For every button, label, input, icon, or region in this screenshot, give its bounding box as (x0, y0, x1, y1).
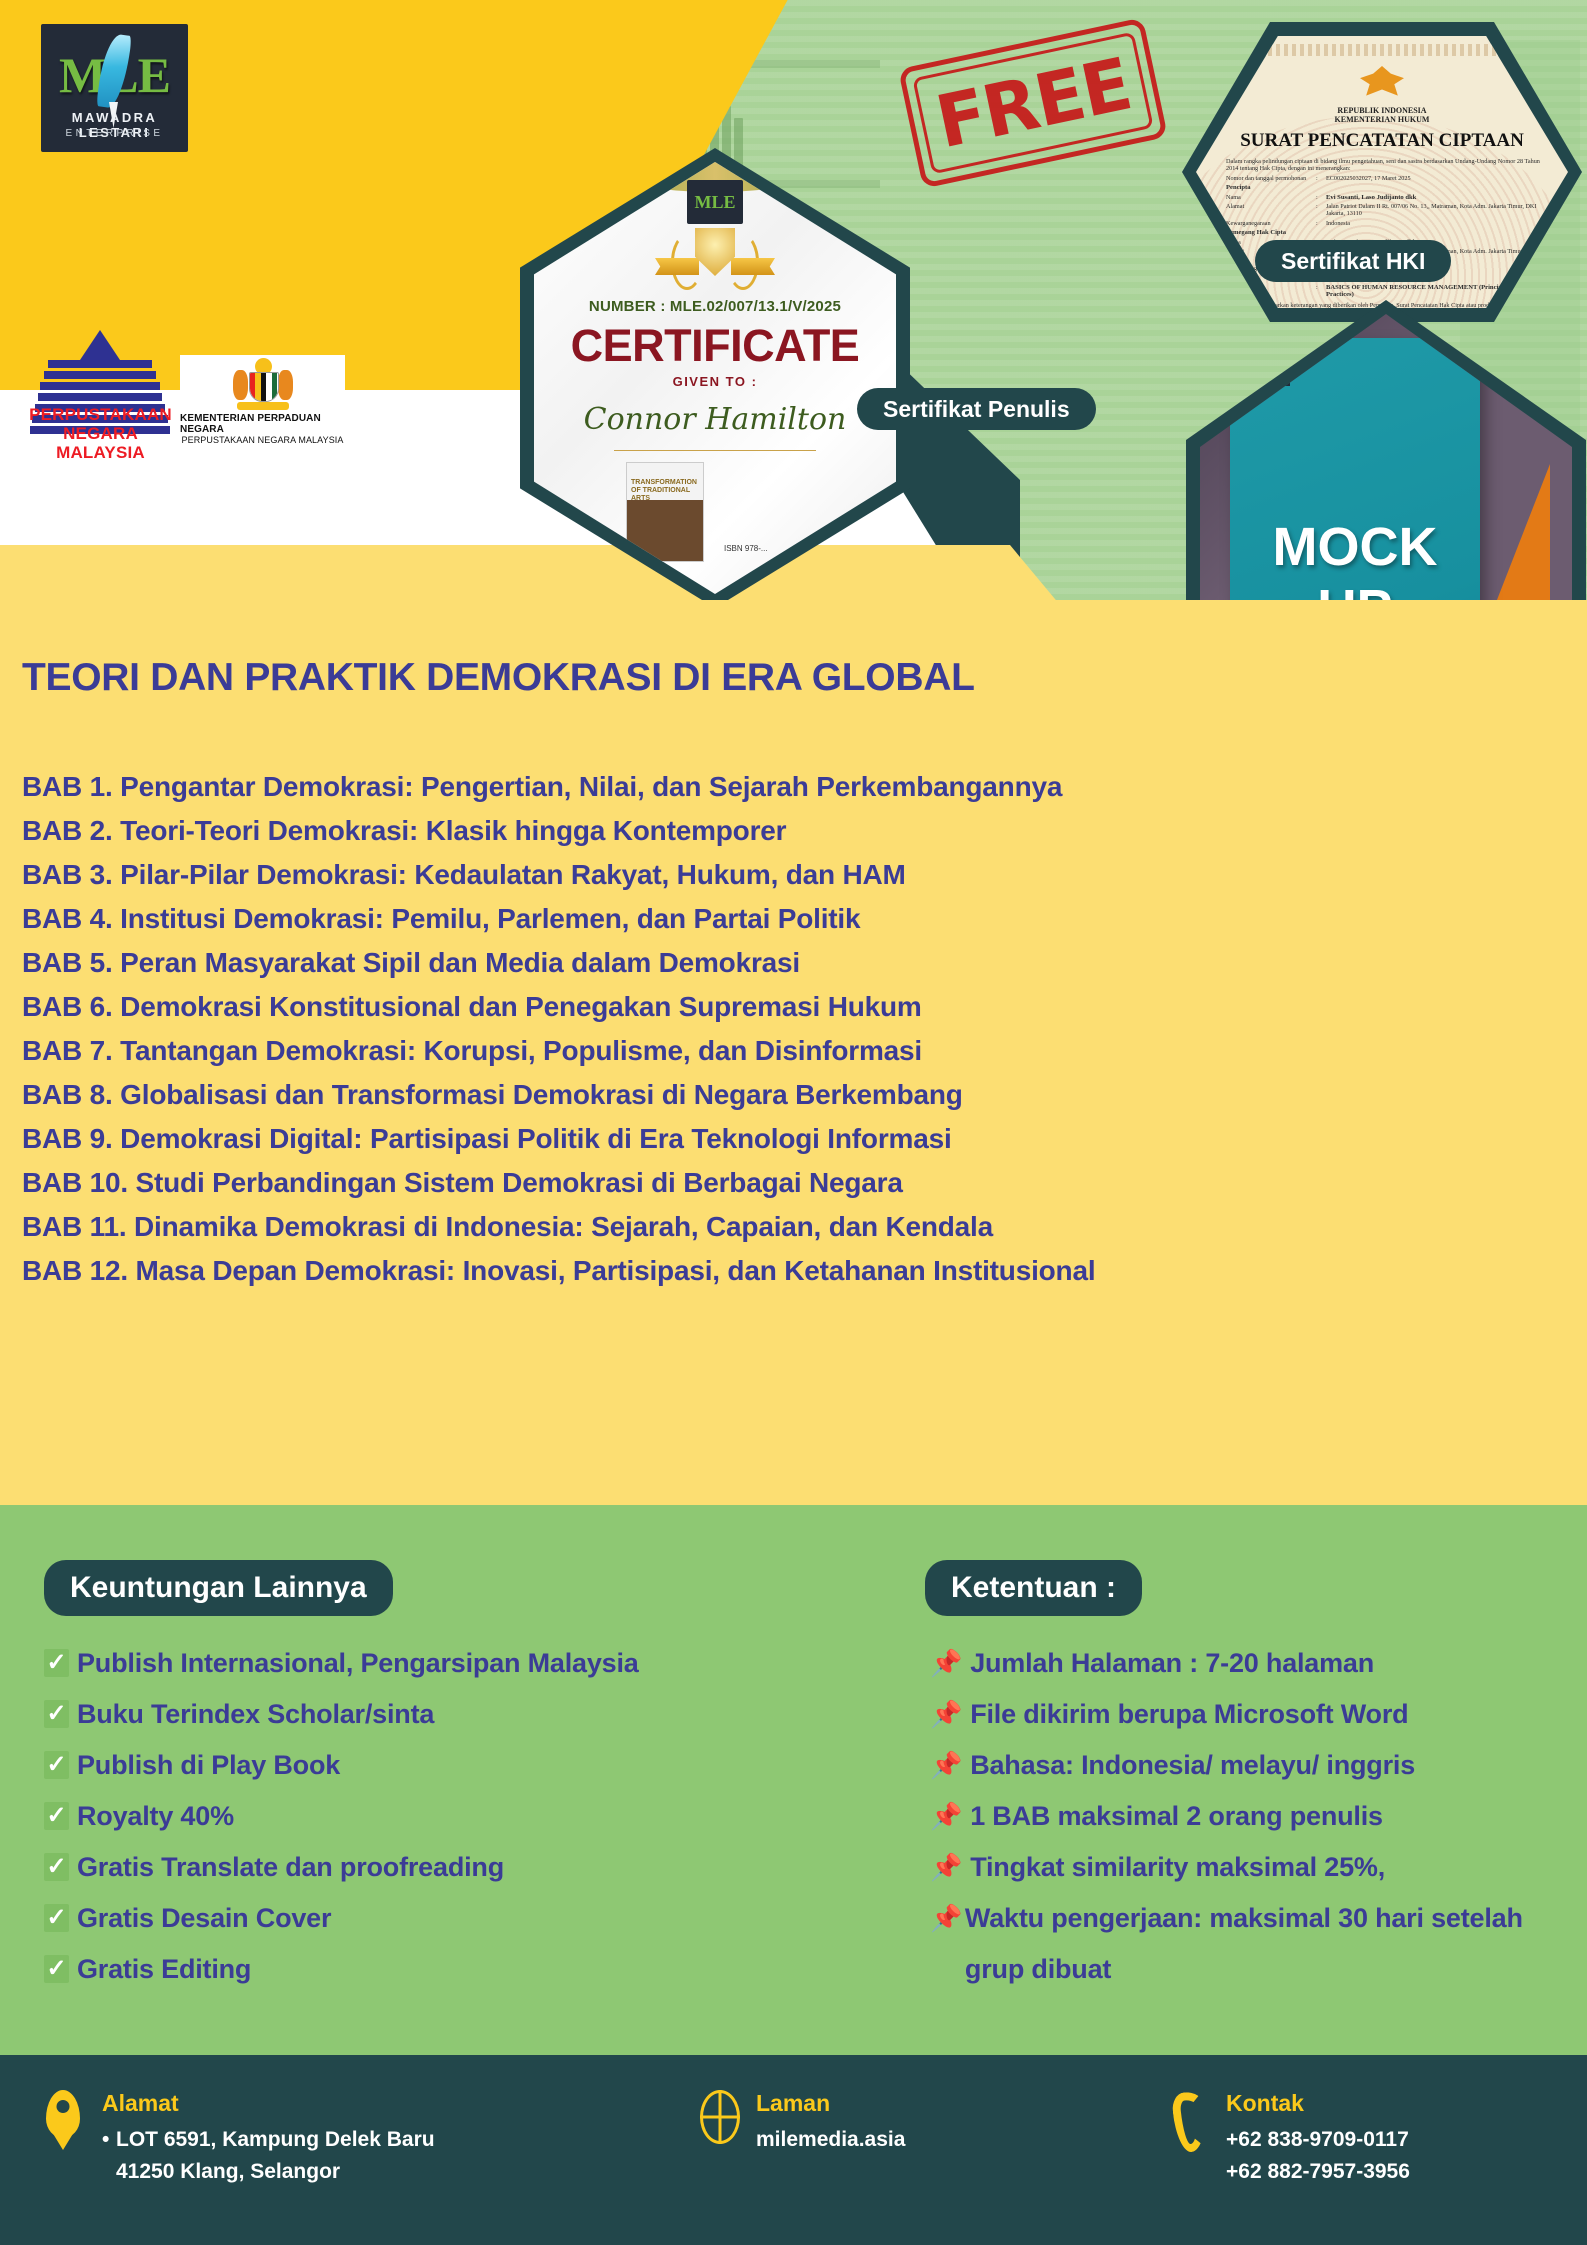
certificate-title: CERTIFICATE (534, 320, 896, 372)
pnm-caption: PERPUSTAKAANNEGARA MALAYSIA (18, 405, 183, 462)
hki-value: Jalan Patriot Dalam II Rt. 007/06 No. 13… (1326, 203, 1546, 218)
pushpin-icon: 📌 (930, 1638, 962, 1689)
list-item: ✓Gratis Desain Cover (44, 1893, 864, 1944)
chapter-item: BAB 1. Pengantar Demokrasi: Pengertian, … (22, 765, 1542, 809)
address-line1-text: LOT 6591, Kampung Delek Baru (116, 2128, 435, 2151)
list-item: 📌Jumlah Halaman : 7-20 halaman (930, 1638, 1560, 1689)
check-icon: ✓ (44, 1955, 69, 1983)
footer-phone-1[interactable]: +62 838-9709-0117 (1226, 2124, 1410, 2156)
check-icon: ✓ (44, 1700, 69, 1728)
check-icon: ✓ (44, 1649, 69, 1677)
hki-key: Nomor dan tanggal permohonan (1226, 175, 1312, 182)
hki-key: Pemegang Hak Cipta (1226, 229, 1286, 236)
pushpin-icon: 📌 (930, 1842, 962, 1893)
sertifikat-hki-badge[interactable]: Sertifikat HKI (1255, 240, 1451, 282)
list-item: ✓Gratis Editing (44, 1944, 864, 1995)
malaysia-crest-icon (231, 360, 295, 410)
chapter-item: BAB 5. Peran Masyarakat Sipil dan Media … (22, 941, 1542, 985)
footer-web-title: Laman (756, 2090, 905, 2116)
chapter-item: BAB 7. Tantangan Demokrasi: Korupsi, Pop… (22, 1029, 1542, 1073)
list-item: 📌File dikirim berupa Microsoft Word (930, 1689, 1560, 1740)
certificate-isbn: ISBN 978-... (724, 544, 768, 553)
hki-value: Evi Susanti, Laso Judijanto dkk (1326, 194, 1416, 201)
hki-republic-line2: KEMENTERIAN HUKUM (1335, 115, 1430, 124)
list-item: ✓Publish Internasional, Pengarsipan Mala… (44, 1638, 864, 1689)
terms-list: 📌Jumlah Halaman : 7-20 halaman 📌File dik… (930, 1638, 1560, 1995)
chapter-item: BAB 6. Demokrasi Konstitusional dan Pene… (22, 985, 1542, 1029)
chapter-item: BAB 11. Dinamika Demokrasi di Indonesia:… (22, 1205, 1542, 1249)
free-stamp-label: FREE (930, 48, 1136, 159)
garuda-emblem-icon (1360, 66, 1404, 104)
hki-value: EC002025032027, 17 Maret 2025 (1326, 175, 1546, 182)
footer-contact-block: Kontak +62 838-9709-0117 +62 882-7957-39… (1170, 2090, 1410, 2188)
pushpin-icon: 📌 (930, 1893, 957, 1944)
benefits-header-label: Keuntungan Lainnya (70, 1571, 367, 1605)
certificate-book-title: TRANSFORMATION OF TRADITIONAL ARTS (631, 479, 699, 503)
list-item: ✓Publish di Play Book (44, 1740, 864, 1791)
chapter-item: BAB 2. Teori-Teori Demokrasi: Klasik hin… (22, 809, 1542, 853)
footer-address-line2: 41250 Klang, Selangor (102, 2156, 435, 2188)
check-icon: ✓ (44, 1904, 69, 1932)
chapter-item: BAB 10. Studi Perbandingan Sistem Demokr… (22, 1161, 1542, 1205)
benefit-label: Buku Terindex Scholar/sinta (77, 1689, 434, 1740)
check-icon: ✓ (44, 1802, 69, 1830)
ministry-line-2: PERPUSTAKAAN NEGARA MALAYSIA (181, 435, 343, 445)
certificate-given-to-label: GIVEN TO : (534, 374, 896, 389)
hki-value: BASICS OF HUMAN RESOURCE MANAGEMENT (Pri… (1326, 284, 1522, 298)
sertifikat-penulis-label: Sertifikat Penulis (883, 396, 1070, 423)
benefit-label: Gratis Translate dan proofreading (77, 1842, 504, 1893)
hki-value: Indonesia (1326, 220, 1546, 227)
certificate-hex-card: MLE NUMBER : MLE.02/007/13.1/V/2025 CERT… (520, 148, 910, 608)
hki-title: SURAT PENCATATAN CIPTAAN (1196, 130, 1568, 152)
benefit-label: Gratis Desain Cover (77, 1893, 331, 1944)
list-item: ✓Royalty 40% (44, 1791, 864, 1842)
page-title: TEORI DAN PRAKTIK DEMOKRASI DI ERA GLOBA… (22, 653, 1142, 703)
list-item: 📌Bahasa: Indonesia/ melayu/ inggris (930, 1740, 1560, 1791)
terms-header-label: Ketentuan : (951, 1571, 1116, 1605)
benefit-label: Publish Internasional, Pengarsipan Malay… (77, 1638, 639, 1689)
list-item: ✓Buku Terindex Scholar/sinta (44, 1689, 864, 1740)
term-label: File dikirim berupa Microsoft Word (970, 1689, 1408, 1740)
mle-logo: MLE MAWADRA LESTARI ENTERPRISE (41, 24, 188, 152)
list-item: 📌1 BAB maksimal 2 orang penulis (930, 1791, 1560, 1842)
footer-web-block: Laman milemedia.asia (700, 2090, 905, 2156)
benefits-header: Keuntungan Lainnya (44, 1560, 393, 1616)
benefit-label: Royalty 40% (77, 1791, 234, 1842)
sertifikat-penulis-badge[interactable]: Sertifikat Penulis (857, 388, 1096, 430)
certificate-seal-icon (655, 228, 775, 290)
footer-contact-title: Kontak (1226, 2090, 1410, 2116)
mockup-title-line1: MOCK (1230, 516, 1480, 578)
term-label: Jumlah Halaman : 7-20 halaman (970, 1638, 1374, 1689)
pnm-triangle-icon (80, 330, 120, 360)
term-label: 1 BAB maksimal 2 orang penulis (970, 1791, 1383, 1842)
list-item: 📌Tingkat similarity maksimal 25%, (930, 1842, 1560, 1893)
footer-address-block: Alamat •LOT 6591, Kampung Delek Baru 412… (46, 2090, 435, 2188)
chapter-item: BAB 3. Pilar-Pilar Demokrasi: Kedaulatan… (22, 853, 1542, 897)
hki-key: Alamat (1226, 203, 1312, 218)
certificate-number: NUMBER : MLE.02/007/13.1/V/2025 (534, 298, 896, 315)
list-item: ✓Gratis Translate dan proofreading (44, 1842, 864, 1893)
benefit-label: Publish di Play Book (77, 1740, 340, 1791)
benefits-list: ✓Publish Internasional, Pengarsipan Mala… (44, 1638, 864, 1995)
chapter-item: BAB 9. Demokrasi Digital: Partisipasi Po… (22, 1117, 1542, 1161)
term-label: Bahasa: Indonesia/ melayu/ inggris (970, 1740, 1415, 1791)
pushpin-icon: 📌 (930, 1791, 962, 1842)
footer-web-url[interactable]: milemedia.asia (756, 2124, 905, 2156)
sertifikat-hki-label: Sertifikat HKI (1281, 248, 1425, 275)
certificate-logo: MLE (687, 180, 743, 224)
certificate-logo-letters: MLE (694, 192, 735, 213)
hki-key: Kewarganegaraan (1226, 220, 1312, 227)
logo-company-suffix: ENTERPRISE (41, 128, 188, 139)
poster-root: MLE MAWADRA LESTARI ENTERPRISE PERPUSTAK… (0, 0, 1587, 2245)
list-item: 📌Waktu pengerjaan: maksimal 30 hari sete… (930, 1893, 1560, 1995)
footer-address-title: Alamat (102, 2090, 435, 2116)
chapter-list: BAB 1. Pengantar Demokrasi: Pengertian, … (22, 765, 1542, 1293)
hki-republic-line1: REPUBLIK INDONESIA (1337, 106, 1426, 115)
hki-intro: Dalam rangka pelindungan ciptaan di bida… (1226, 158, 1546, 173)
hki-body: Dalam rangka pelindungan ciptaan di bida… (1226, 158, 1546, 308)
hki-republic-header: REPUBLIK INDONESIA KEMENTERIAN HUKUM (1196, 106, 1568, 124)
chapter-item: BAB 4. Institusi Demokrasi: Pemilu, Parl… (22, 897, 1542, 941)
chapter-item: BAB 12. Masa Depan Demokrasi: Inovasi, P… (22, 1249, 1542, 1293)
chapter-item: BAB 8. Globalisasi dan Transformasi Demo… (22, 1073, 1542, 1117)
terms-header: Ketentuan : (925, 1560, 1142, 1616)
location-pin-icon (46, 2090, 88, 2144)
hki-key: Nama (1226, 194, 1312, 201)
term-label: Tingkat similarity maksimal 25%, (970, 1842, 1385, 1893)
pushpin-icon: 📌 (930, 1689, 962, 1740)
term-label: Waktu pengerjaan: maksimal 30 hari setel… (965, 1893, 1560, 1995)
certificate-recipient-name: Connor Hamilton (534, 402, 896, 437)
check-icon: ✓ (44, 1751, 69, 1779)
kementerian-perpaduan-logo: KEMENTERIAN PERPADUAN NEGARA PERPUSTAKAA… (180, 355, 345, 449)
hki-key: Pencipta (1226, 184, 1251, 191)
pushpin-icon: 📌 (930, 1740, 962, 1791)
benefit-label: Gratis Editing (77, 1944, 251, 1995)
globe-icon (700, 2090, 742, 2144)
check-icon: ✓ (44, 1853, 69, 1881)
footer-phone-2[interactable]: +62 882-7957-3956 (1226, 2156, 1410, 2188)
ministry-line-1: KEMENTERIAN PERPADUAN NEGARA (180, 413, 345, 435)
certificate-divider (614, 450, 816, 451)
footer-address-line1: •LOT 6591, Kampung Delek Baru (102, 2124, 435, 2156)
phone-icon (1170, 2090, 1212, 2144)
